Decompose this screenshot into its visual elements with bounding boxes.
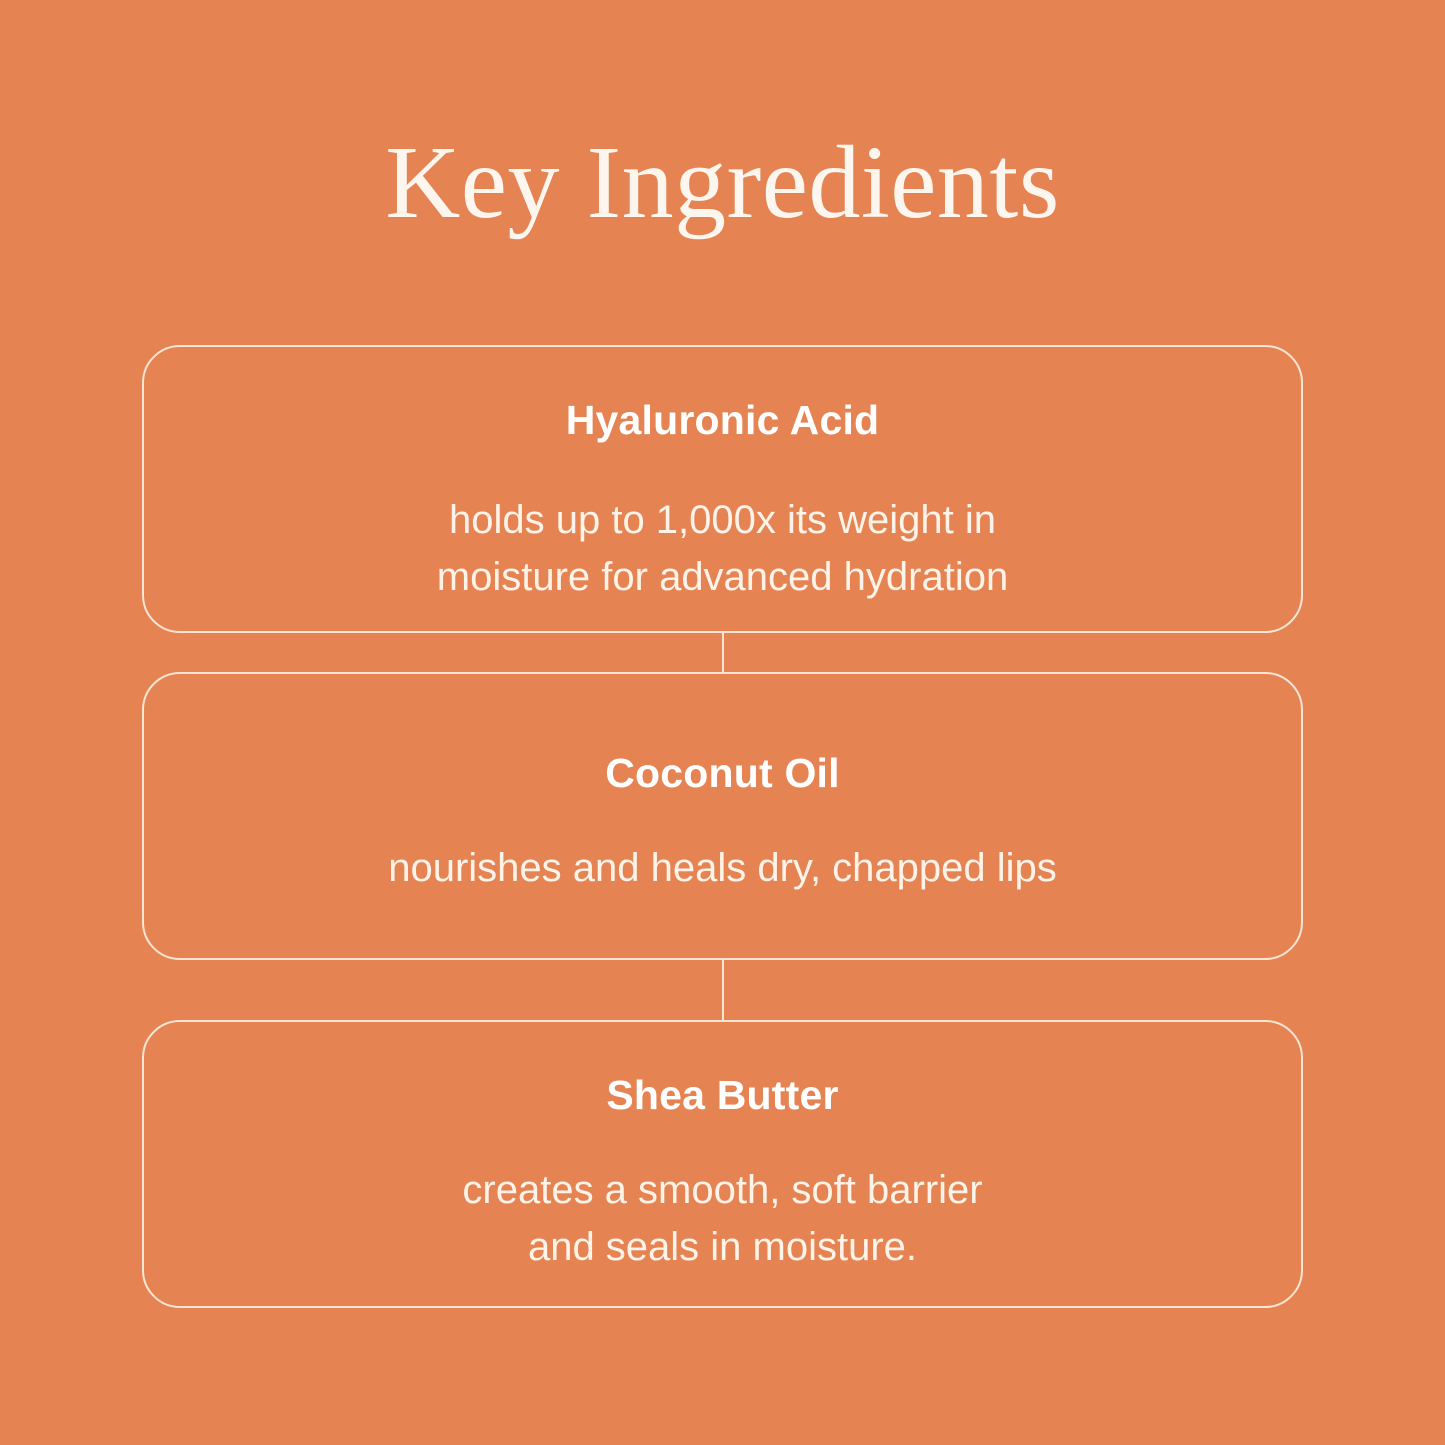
connector-line (722, 633, 724, 672)
connector-line (722, 960, 724, 1020)
ingredient-description: creates a smooth, soft barrier and seals… (462, 1162, 982, 1276)
ingredient-name: Shea Butter (606, 1071, 838, 1120)
ingredient-card-coconut-oil: Coconut Oil nourishes and heals dry, cha… (142, 672, 1303, 960)
ingredient-description-line: holds up to 1,000x its weight in (449, 498, 996, 542)
ingredient-description: nourishes and heals dry, chapped lips (388, 840, 1057, 897)
ingredient-description-line: nourishes and heals dry, chapped lips (388, 846, 1057, 890)
ingredient-card-stack: Hyaluronic Acid holds up to 1,000x its w… (142, 345, 1303, 1308)
ingredient-description: holds up to 1,000x its weight in moistur… (437, 492, 1008, 606)
ingredient-card-hyaluronic-acid: Hyaluronic Acid holds up to 1,000x its w… (142, 345, 1303, 633)
ingredient-name: Coconut Oil (605, 749, 840, 798)
ingredient-description-line: and seals in moisture. (528, 1225, 917, 1269)
key-ingredients-poster: Key Ingredients Hyaluronic Acid holds up… (0, 0, 1445, 1445)
ingredient-card-shea-butter: Shea Butter creates a smooth, soft barri… (142, 1020, 1303, 1308)
ingredient-name: Hyaluronic Acid (566, 396, 880, 445)
ingredient-description-line: moisture for advanced hydration (437, 555, 1008, 599)
page-title: Key Ingredients (0, 126, 1445, 240)
ingredient-description-line: creates a smooth, soft barrier (462, 1168, 982, 1212)
